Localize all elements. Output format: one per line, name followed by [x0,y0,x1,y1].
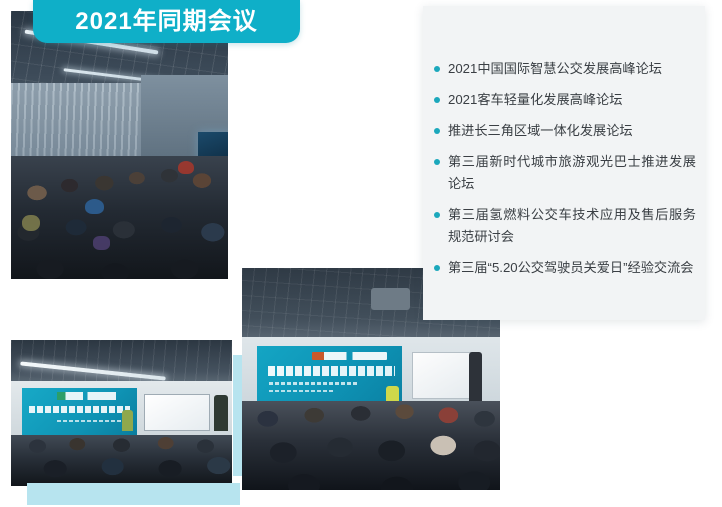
list-item[interactable]: 推进长三角区域一体化发展论坛 [434,120,696,142]
list-item[interactable]: 第三届新时代城市旅游观光巴士推进发展论坛 [434,151,696,195]
sponsor-logos [312,352,387,361]
list-item[interactable]: 2021客车轻量化发展高峰论坛 [434,89,696,111]
ceiling [11,340,232,384]
speaker-standing [469,352,482,401]
ceiling-vent-icon [371,288,410,310]
audience-seating [242,401,500,490]
banner-subtitle-text [269,382,359,385]
photo-top-left-auditorium [11,11,228,279]
banner-title-text [29,406,130,413]
speaker-standing [214,395,227,430]
accent-block-cyan [27,483,240,505]
audience-seating [11,156,228,279]
photo-bottom-left-forum [11,340,232,486]
audience-person [93,236,110,250]
banner-subtitle-text [57,420,121,423]
panel-banner-title: 2021年同期会议 [75,10,257,34]
audience-person [22,215,40,231]
banner-title-text [268,366,395,376]
audience-person [178,161,194,174]
slide-canvas: 2021年同期会议 2021中国国际智慧公交发展高峰论坛 2021客车轻量化发展… [0,0,722,507]
presenter-standing [122,410,133,430]
panel-banner: 2021年同期会议 [33,0,300,43]
sponsor-logos [57,392,117,400]
audience-person [85,199,104,214]
audience-seating [11,435,232,486]
list-item[interactable]: 2021中国国际智慧公交发展高峰论坛 [434,58,696,80]
list-item[interactable]: 第三届氢燃料公交车技术应用及售后服务规范研讨会 [434,204,696,248]
banner-subtitle-text [269,390,334,393]
list-item[interactable]: 第三届“5.20公交驾驶员关爱日”经验交流会 [434,257,696,279]
meeting-list: 2021中国国际智慧公交发展高峰论坛 2021客车轻量化发展高峰论坛 推进长三角… [434,58,696,288]
projector-screen [144,394,210,431]
